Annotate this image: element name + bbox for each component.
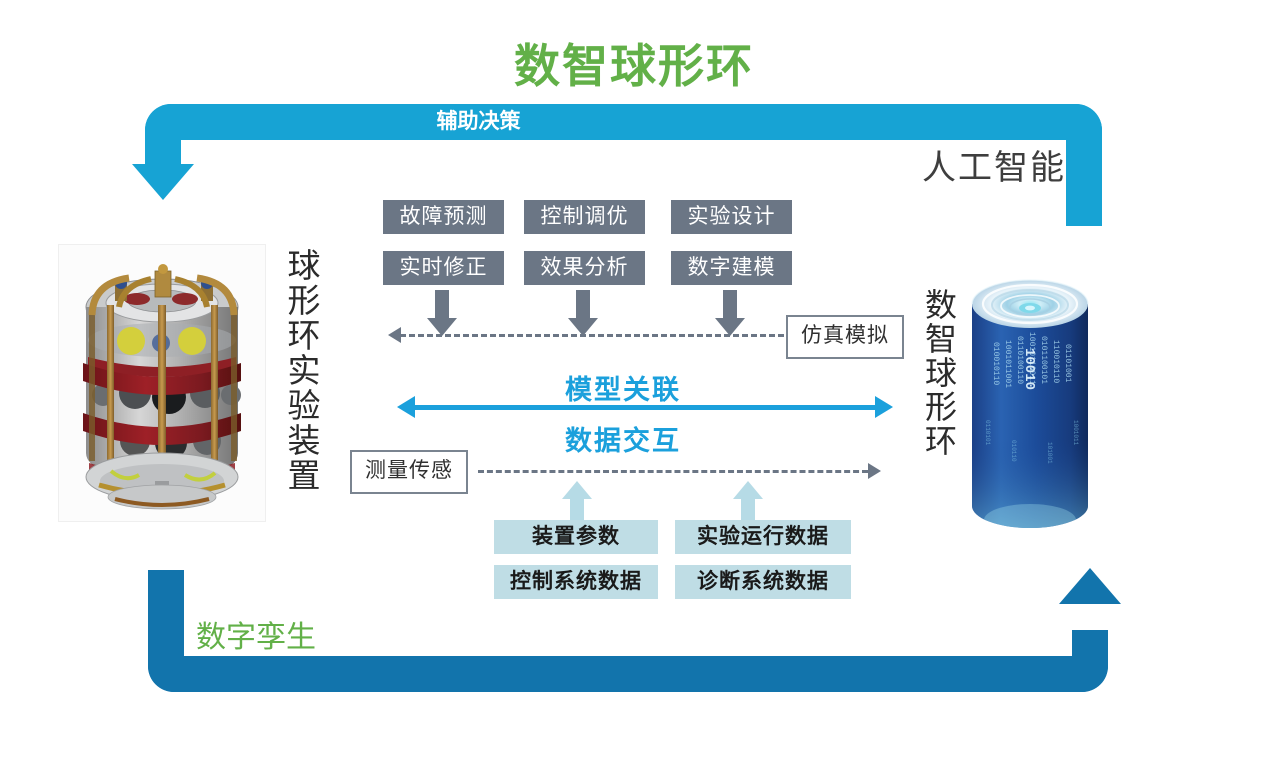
- diagram-canvas: 数智球形环 辅助决策 数字孪生 人工智能: [0, 0, 1268, 778]
- ai-function-box-control-optimization[interactable]: 控制调优: [524, 200, 645, 234]
- ai-function-box-realtime-correction[interactable]: 实时修正: [383, 251, 504, 285]
- ai-function-box-digital-modeling[interactable]: 数字建模: [671, 251, 792, 285]
- bottom-loop-label: 数字孪生: [196, 612, 316, 656]
- bidirectional-arrow-head-right-icon: [875, 396, 893, 418]
- data-exchange-label: 数据交互: [453, 419, 793, 458]
- bottom-band-bar: [148, 656, 1108, 692]
- sensing-arrow-head-icon: [868, 463, 881, 479]
- top-loop-label: 辅助决策: [0, 104, 957, 140]
- data-source-box-device-parameters[interactable]: 装置参数: [494, 520, 658, 554]
- down-arrow-icon-3: [715, 290, 745, 338]
- data-source-box-experiment-run-data[interactable]: 实验运行数据: [675, 520, 851, 554]
- down-arrow-icon-1: [427, 290, 457, 338]
- ai-function-box-fault-prediction[interactable]: 故障预测: [383, 200, 504, 234]
- artificial-intelligence-label: 人工智能: [922, 140, 1066, 189]
- bottom-band-right-stem: [1072, 630, 1108, 692]
- bidirectional-arrow-head-left-icon: [397, 396, 415, 418]
- svg-text:0101100101: 0101100101: [1039, 336, 1048, 384]
- bottom-band-left-stem: [148, 570, 184, 692]
- top-band-right-stem: [1066, 104, 1102, 226]
- page-title: 数智球形环: [0, 30, 1268, 96]
- ai-function-box-experiment-design[interactable]: 实验设计: [671, 200, 792, 234]
- data-source-box-diagnostic-system-data[interactable]: 诊断系统数据: [675, 565, 851, 599]
- svg-text:1001011: 1001011: [1072, 420, 1079, 446]
- ai-function-box-effect-analysis[interactable]: 效果分析: [524, 251, 645, 285]
- bidirectional-arrow-line: [415, 405, 875, 410]
- svg-text:01101001: 01101001: [1063, 344, 1072, 383]
- simulation-arrow-head-icon: [388, 327, 401, 343]
- sensing-dashed-line: [478, 470, 868, 473]
- bottom-band-arrow-head-icon: [1059, 568, 1121, 604]
- svg-text:0110101: 0110101: [984, 420, 991, 446]
- right-digital-label: 数智球形环: [920, 288, 960, 458]
- simulation-box[interactable]: 仿真模拟: [786, 315, 904, 359]
- spherical-tokamak-device-image: [58, 244, 266, 522]
- svg-text:110010110: 110010110: [1051, 340, 1060, 383]
- simulation-dashed-line: [400, 334, 784, 337]
- left-device-label: 球形环实验装置: [278, 248, 322, 493]
- svg-text:101001: 101001: [1046, 442, 1053, 464]
- down-arrow-icon-2: [568, 290, 598, 338]
- measurement-sensing-box[interactable]: 测量传感: [350, 450, 468, 494]
- svg-text:1001011001: 1001011001: [1003, 340, 1012, 388]
- top-band-arrow-head-icon: [132, 164, 194, 200]
- digital-twin-cylinder-image: 010010110 1001011001 0110100110 10010110…: [968, 270, 1092, 536]
- svg-text:10010: 10010: [1021, 348, 1037, 390]
- data-source-box-control-system-data[interactable]: 控制系统数据: [494, 565, 658, 599]
- svg-text:010110: 010110: [1010, 440, 1017, 462]
- svg-text:010010110: 010010110: [991, 342, 1000, 385]
- model-link-label: 模型关联: [453, 368, 793, 407]
